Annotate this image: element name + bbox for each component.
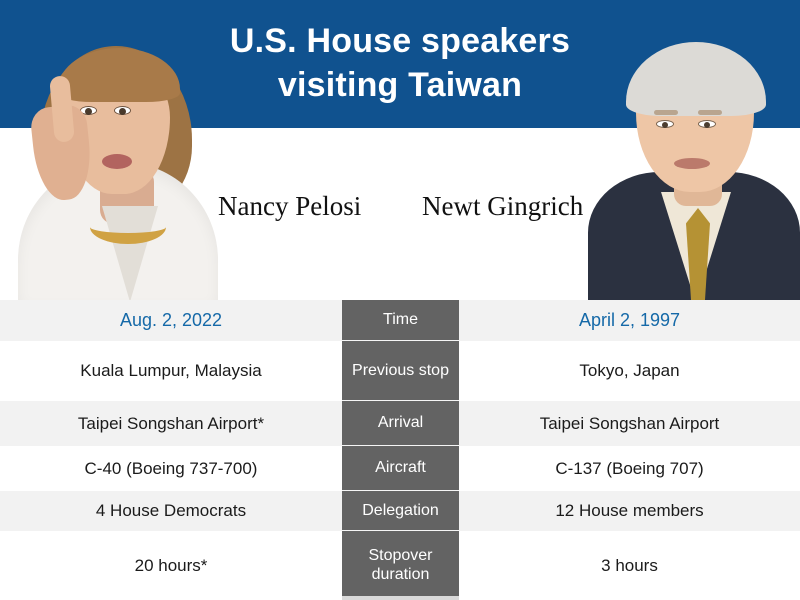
gingrich-brow-left [654, 110, 678, 115]
name-right: Newt Gingrich [422, 182, 583, 230]
table-row: 4 House Democrats Delegation 12 House me… [0, 491, 800, 531]
name-left: Nancy Pelosi [218, 182, 361, 230]
gingrich-pupil-right [704, 122, 710, 128]
row-value-left: 4 House Democrats [0, 491, 342, 531]
pelosi-pupil-right [119, 108, 126, 115]
row-value-right: Tokyo, Japan [459, 341, 800, 401]
row-value-left: Aug. 2, 2022 [0, 300, 342, 341]
table-row: Taipei Songshan Airport* Arrival Taipei … [0, 401, 800, 446]
mid-column-footer-sliver [342, 596, 459, 600]
row-label: Aircraft [342, 446, 459, 491]
row-label: Stopover duration [342, 531, 459, 600]
row-value-left: C-40 (Boeing 737-700) [0, 446, 342, 491]
photo-nancy-pelosi [14, 40, 224, 302]
row-label: Time [342, 300, 459, 341]
row-value-right: Taipei Songshan Airport [459, 401, 800, 446]
row-label: Arrival [342, 401, 459, 446]
row-value-left: 20 hours* [0, 531, 342, 600]
gingrich-mouth [674, 158, 710, 169]
infographic-root: U.S. House speakers visiting Taiwan Nanc… [0, 0, 800, 600]
row-value-right: April 2, 1997 [459, 300, 800, 341]
gingrich-pupil-left [662, 122, 668, 128]
table-row: 20 hours* Stopover duration 3 hours [0, 531, 800, 600]
row-label: Delegation [342, 491, 459, 531]
table-row: C-40 (Boeing 737-700) Aircraft C-137 (Bo… [0, 446, 800, 491]
pelosi-necklace [90, 210, 166, 244]
row-value-right: 3 hours [459, 531, 800, 600]
photo-newt-gingrich [588, 32, 800, 304]
row-value-left: Taipei Songshan Airport* [0, 401, 342, 446]
table-row: Kuala Lumpur, Malaysia Previous stop Tok… [0, 341, 800, 401]
table-row: Aug. 2, 2022 Time April 2, 1997 [0, 300, 800, 341]
row-label: Previous stop [342, 341, 459, 401]
pelosi-mouth [102, 154, 132, 169]
comparison-table: Aug. 2, 2022 Time April 2, 1997 Kuala Lu… [0, 300, 800, 600]
row-value-right: C-137 (Boeing 707) [459, 446, 800, 491]
gingrich-hair [626, 42, 766, 116]
pelosi-fringe [58, 48, 180, 102]
row-value-left: Kuala Lumpur, Malaysia [0, 341, 342, 401]
pelosi-pupil-left [85, 108, 92, 115]
row-value-right: 12 House members [459, 491, 800, 531]
gingrich-brow-right [698, 110, 722, 115]
